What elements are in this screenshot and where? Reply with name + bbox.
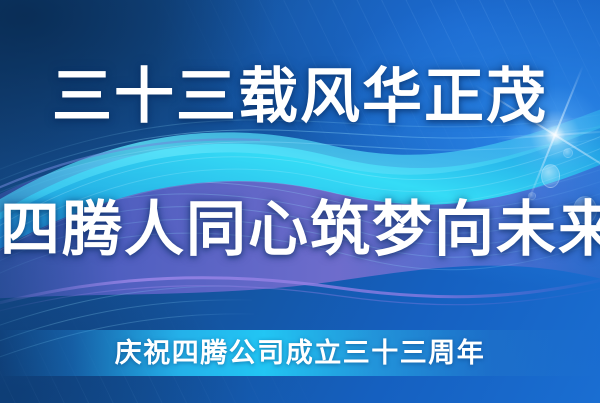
subtitle-text: 庆祝四腾公司成立三十三周年 (0, 336, 600, 370)
headline-line-1: 三十三载风华正茂 (0, 63, 600, 131)
headline-line-2: 四腾人同心筑梦向未来 (0, 196, 600, 264)
anniversary-banner: 三十三载风华正茂 四腾人同心筑梦向未来 庆祝四腾公司成立三十三周年 (0, 0, 600, 403)
bokeh-circle-icon (541, 164, 560, 188)
bokeh-circle-icon (563, 148, 573, 158)
